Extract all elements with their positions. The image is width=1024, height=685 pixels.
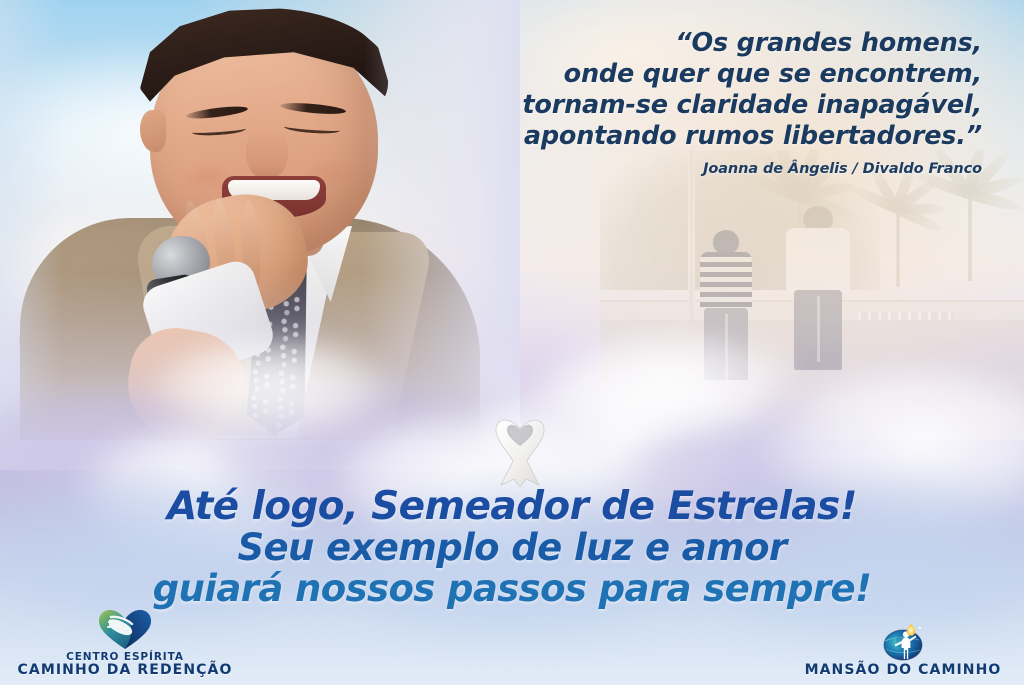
globe-figure-flame-icon bbox=[788, 621, 1018, 661]
headline-line-3: guiará nossos passos para sempre! bbox=[0, 568, 1024, 609]
logo-centro-espirita-caminho-da-redencao[interactable]: CENTRO ESPÍRITA CAMINHO DA REDENÇÃO bbox=[10, 608, 240, 677]
background-person-adult bbox=[782, 206, 854, 382]
quote-line-4: apontando rumos libertadores.” bbox=[422, 121, 982, 152]
headline-line-2: Seu exemplo de luz e amor bbox=[0, 528, 1024, 568]
portrait-ear bbox=[140, 110, 166, 152]
background-pole bbox=[688, 150, 695, 335]
logo-caption-bottom: CAMINHO DA REDENÇÃO bbox=[10, 664, 240, 677]
quote-line-3: tornam-se claridade inapagável, bbox=[422, 90, 982, 121]
background-photo-two-people-walking bbox=[600, 150, 1024, 440]
heart-hands-icon bbox=[10, 608, 240, 648]
quote-line-1: “Os grandes homens, bbox=[422, 28, 982, 59]
portrait-nose bbox=[246, 128, 288, 180]
poster-canvas: “Os grandes homens, onde quer que se enc… bbox=[0, 0, 1024, 685]
quote-line-2: onde quer que se encontrem, bbox=[422, 59, 982, 90]
logo-caption-bottom: MANSÃO DO CAMINHO bbox=[788, 664, 1018, 677]
headline-block: Até logo, Semeador de Estrelas! Seu exem… bbox=[0, 486, 1024, 609]
background-person-child bbox=[696, 230, 756, 382]
headline-line-1: Até logo, Semeador de Estrelas! bbox=[0, 486, 1024, 528]
quote-attribution: Joanna de Ângelis / Divaldo Franco bbox=[422, 161, 982, 177]
palm-tree-icon bbox=[913, 167, 1024, 281]
white-mourning-ribbon-icon bbox=[489, 409, 551, 487]
logo-mansao-do-caminho[interactable]: MANSÃO DO CAMINHO bbox=[788, 621, 1018, 677]
quote-block: “Os grandes homens, onde quer que se enc… bbox=[422, 28, 982, 177]
